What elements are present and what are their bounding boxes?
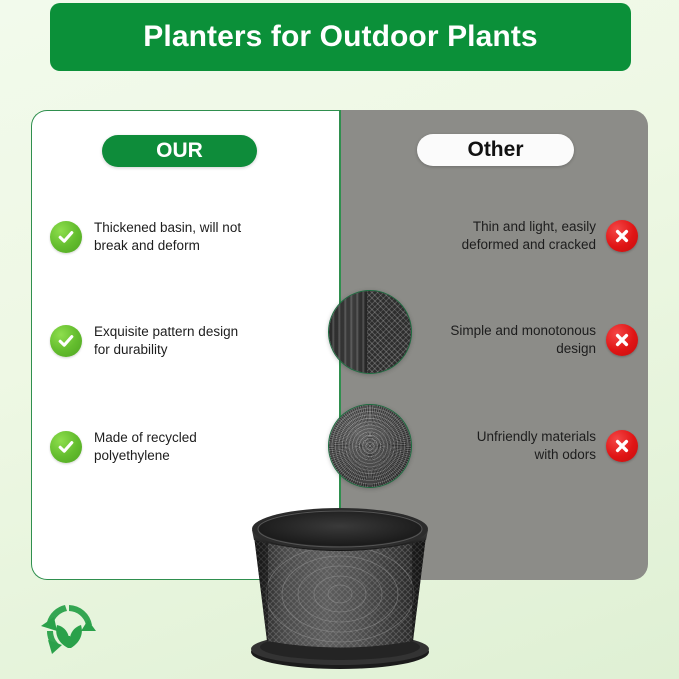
green-check-icon [50, 325, 82, 357]
feature-text-our-3: Made of recycled polyethylene [94, 429, 197, 465]
red-cross-icon [606, 324, 638, 356]
feature-text-our-1: Thickened basin, will not break and defo… [94, 219, 241, 255]
badge-other-label: Other [467, 138, 523, 162]
feature-text-other-1: Thin and light, easily deformed and crac… [462, 218, 596, 254]
feature-text-other-2: Simple and monotonous design [450, 322, 596, 358]
green-check-icon [50, 221, 82, 253]
product-photo-planter [234, 502, 446, 674]
feature-row-our-3: Made of recycled polyethylene [50, 429, 315, 465]
recycle-leaf-icon [38, 598, 100, 660]
feature-row-our-2: Exquisite pattern design for durability [50, 323, 315, 359]
feature-row-other-3: Unfriendly materials with odors [373, 428, 638, 464]
planter-wall-closeup-image [328, 290, 412, 374]
feature-text-our-2: Exquisite pattern design for durability [94, 323, 238, 359]
feature-row-our-1: Thickened basin, will not break and defo… [50, 219, 315, 255]
woven-pattern-closeup-image [328, 404, 412, 488]
badge-our-label: OUR [156, 139, 203, 163]
red-cross-icon [606, 430, 638, 462]
badge-other: Other [417, 134, 574, 166]
feature-text-other-3: Unfriendly materials with odors [477, 428, 596, 464]
header-banner: Planters for Outdoor Plants [50, 3, 631, 71]
red-cross-icon [606, 220, 638, 252]
page-title: Planters for Outdoor Plants [143, 20, 537, 54]
feature-row-other-1: Thin and light, easily deformed and crac… [373, 218, 638, 254]
badge-our: OUR [102, 135, 257, 167]
green-check-icon [50, 431, 82, 463]
feature-row-other-2: Simple and monotonous design [373, 322, 638, 358]
